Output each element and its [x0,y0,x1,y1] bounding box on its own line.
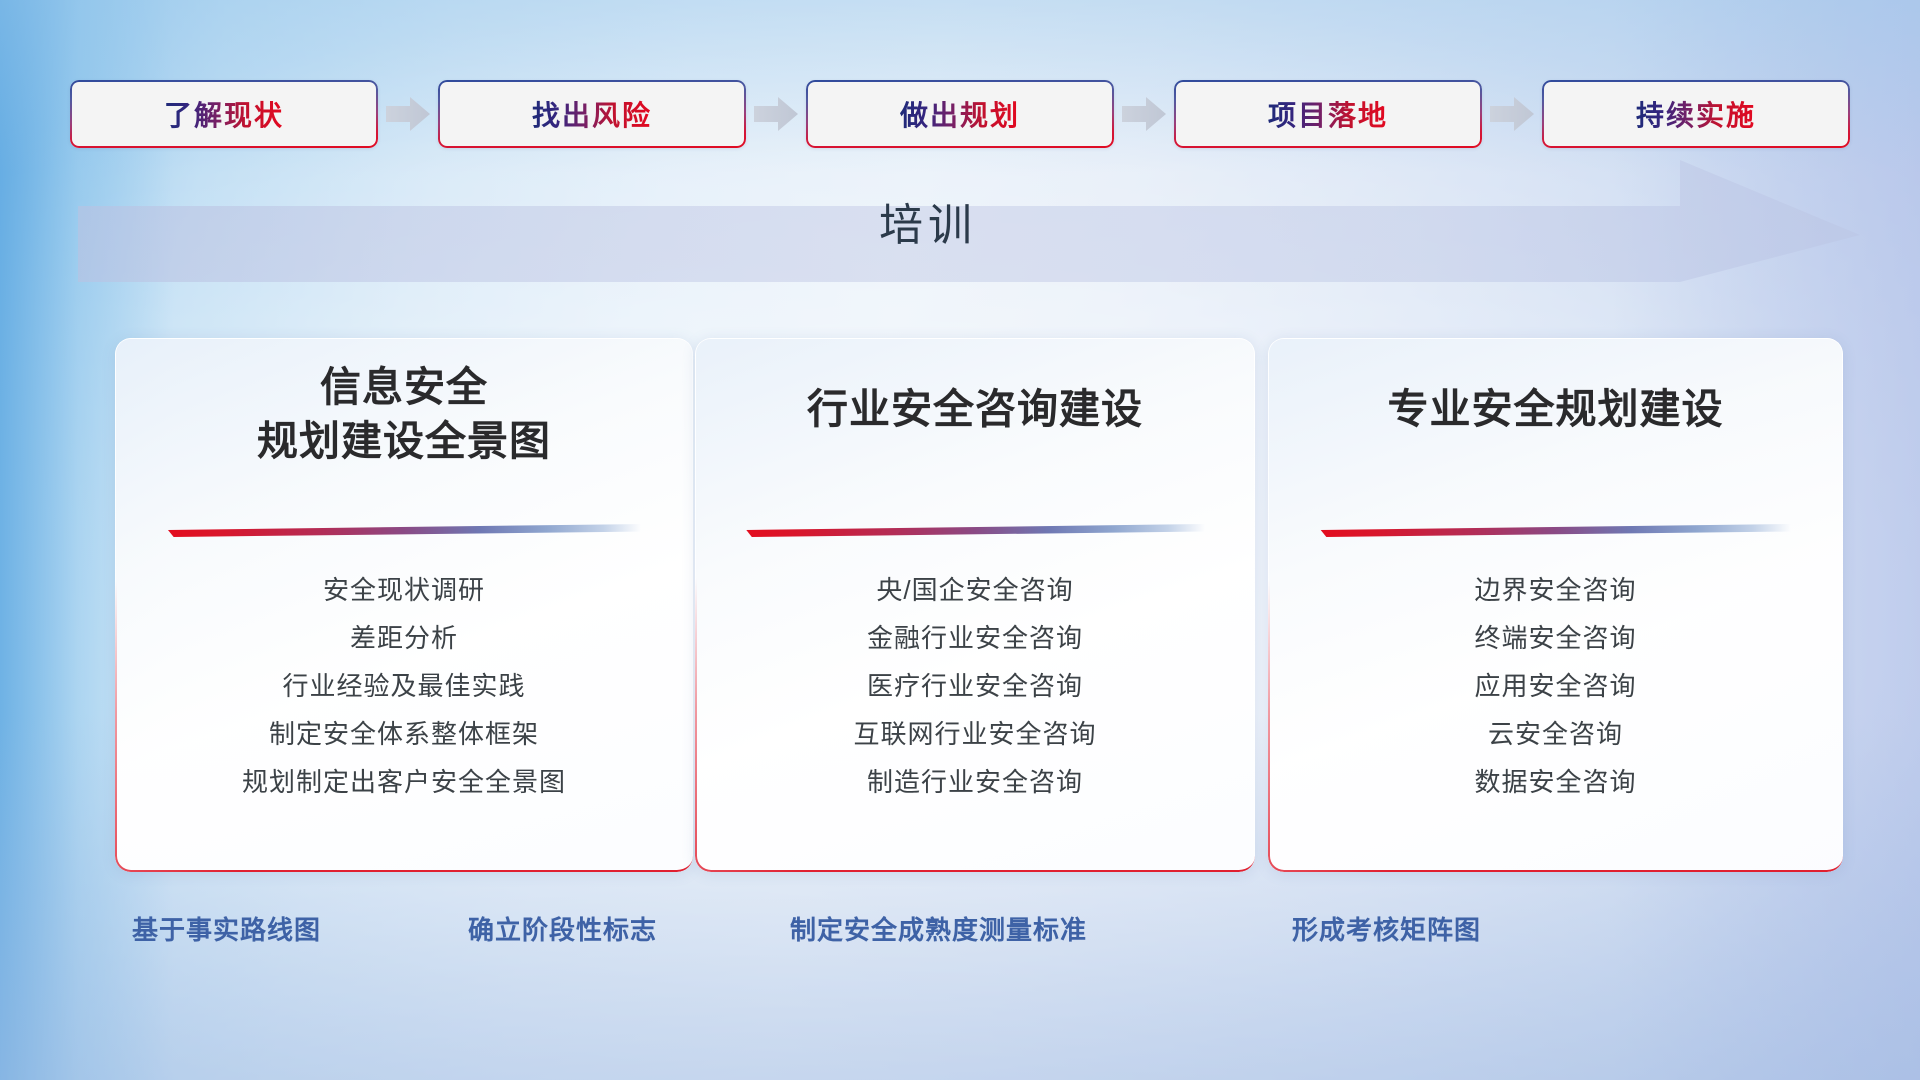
card-list-item[interactable]: 制定安全体系整体框架 [115,710,693,758]
right-arrow-icon [386,97,430,131]
card-list-item[interactable]: 应用安全咨询 [1268,662,1843,710]
service-card-3[interactable]: 专业安全规划建设边界安全咨询终端安全咨询应用安全咨询云安全咨询数据安全咨询 [1268,338,1843,872]
card-title: 行业安全咨询建设 [695,382,1255,436]
card-list-item[interactable]: 行业经验及最佳实践 [115,662,693,710]
card-list-item[interactable]: 边界安全咨询 [1268,566,1843,614]
card-list-item[interactable]: 制造行业安全咨询 [695,758,1255,806]
card-title-line: 信息安全 [115,360,693,414]
training-banner-label: 培训 [78,160,1778,282]
card-title: 专业安全规划建设 [1268,382,1843,436]
process-step-label: 项目落地 [1268,94,1388,134]
process-step-4[interactable]: 项目落地 [1174,80,1482,148]
card-title: 信息安全规划建设全景图 [115,360,693,468]
bottom-label-row: 基于事实路线图确立阶段性标志制定安全成熟度测量标准形成考核矩阵图 [0,910,1920,966]
process-step-label: 做出规划 [900,94,1020,134]
card-title-line: 规划建设全景图 [115,414,693,468]
card-item-list: 央/国企安全咨询金融行业安全咨询医疗行业安全咨询互联网行业安全咨询制造行业安全咨… [695,566,1255,806]
card-list-item[interactable]: 终端安全咨询 [1268,614,1843,662]
card-title-line: 行业安全咨询建设 [695,382,1255,436]
process-step-label: 持续实施 [1636,94,1756,134]
card-item-list: 安全现状调研差距分析行业经验及最佳实践制定安全体系整体框架规划制定出客户安全全景… [115,566,693,806]
card-gradient-divider [1320,524,1792,537]
card-list-item[interactable]: 央/国企安全咨询 [695,566,1255,614]
card-list-item[interactable]: 互联网行业安全咨询 [695,710,1255,758]
right-arrow-icon [1490,97,1534,131]
process-step-3[interactable]: 做出规划 [806,80,1114,148]
card-gradient-divider [167,524,641,537]
process-step-5[interactable]: 持续实施 [1542,80,1850,148]
bottom-label-1: 基于事实路线图 [132,910,321,947]
card-list-item[interactable]: 金融行业安全咨询 [695,614,1255,662]
card-list-item[interactable]: 云安全咨询 [1268,710,1843,758]
card-list-item[interactable]: 差距分析 [115,614,693,662]
card-gradient-divider [745,524,1204,537]
right-arrow-icon [1122,97,1166,131]
bottom-label-3: 制定安全成熟度测量标准 [790,910,1087,947]
process-step-label: 找出风险 [532,94,652,134]
process-step-row: 了解现状找出风险做出规划项目落地持续实施 [70,80,1850,148]
card-list-item[interactable]: 数据安全咨询 [1268,758,1843,806]
training-banner: 培训 [78,160,1860,282]
card-list-item[interactable]: 医疗行业安全咨询 [695,662,1255,710]
bottom-label-2: 确立阶段性标志 [468,910,657,947]
bottom-label-4: 形成考核矩阵图 [1292,910,1481,947]
card-list-item[interactable]: 安全现状调研 [115,566,693,614]
card-item-list: 边界安全咨询终端安全咨询应用安全咨询云安全咨询数据安全咨询 [1268,566,1843,806]
card-title-line: 专业安全规划建设 [1268,382,1843,436]
cards-row: 信息安全规划建设全景图安全现状调研差距分析行业经验及最佳实践制定安全体系整体框架… [0,338,1920,878]
service-card-1[interactable]: 信息安全规划建设全景图安全现状调研差距分析行业经验及最佳实践制定安全体系整体框架… [115,338,693,872]
process-step-2[interactable]: 找出风险 [438,80,746,148]
process-step-label: 了解现状 [164,94,284,134]
process-step-1[interactable]: 了解现状 [70,80,378,148]
right-arrow-icon [754,97,798,131]
card-list-item[interactable]: 规划制定出客户安全全景图 [115,758,693,806]
service-card-2[interactable]: 行业安全咨询建设央/国企安全咨询金融行业安全咨询医疗行业安全咨询互联网行业安全咨… [695,338,1255,872]
